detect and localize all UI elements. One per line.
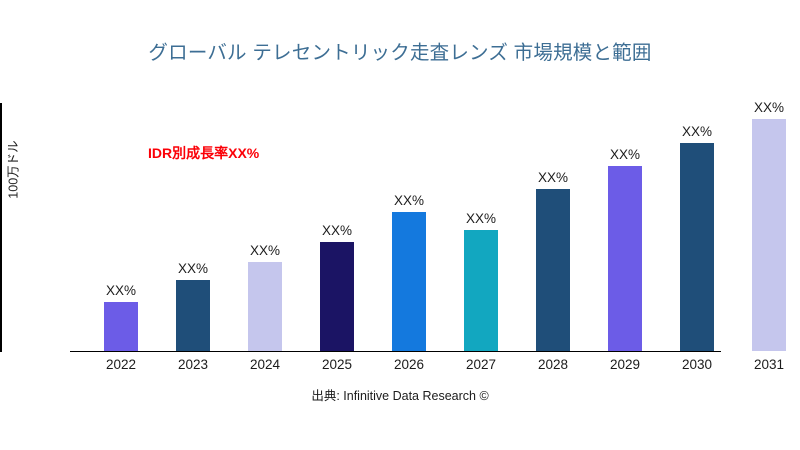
- x-tick-label-2029: 2029: [595, 357, 655, 372]
- bar-2030[interactable]: [680, 143, 714, 351]
- x-tick-label-2025: 2025: [307, 357, 367, 372]
- bar-column-2023[interactable]: XX%: [176, 103, 210, 351]
- bar-2029[interactable]: [608, 166, 642, 351]
- bar-2025[interactable]: [320, 242, 354, 351]
- chart-title: グローバル テレセントリック走査レンズ 市場規模と範囲: [0, 36, 800, 65]
- bar-value-label-2026: XX%: [394, 193, 424, 208]
- bar-value-label-2025: XX%: [322, 223, 352, 238]
- x-tick-label-2026: 2026: [379, 357, 439, 372]
- plot-area: XX%XX%XX%XX%XX%XX%XX%XX%XX%XX%: [70, 103, 800, 351]
- bar-column-2027[interactable]: XX%: [464, 103, 498, 351]
- bar-column-2031[interactable]: XX%: [752, 103, 786, 351]
- bar-column-2022[interactable]: XX%: [104, 103, 138, 351]
- x-tick-label-2028: 2028: [523, 357, 583, 372]
- bar-value-label-2027: XX%: [466, 211, 496, 226]
- x-tick-label-2024: 2024: [235, 357, 295, 372]
- bar-2031[interactable]: [752, 119, 786, 351]
- bar-value-label-2029: XX%: [610, 147, 640, 162]
- x-tick-label-2022: 2022: [91, 357, 151, 372]
- bar-2027[interactable]: [464, 230, 498, 351]
- chart-container: グローバル テレセントリック走査レンズ 市場規模と範囲 100万ドル XX%XX…: [0, 0, 800, 450]
- bar-value-label-2030: XX%: [682, 124, 712, 139]
- bar-value-label-2028: XX%: [538, 170, 568, 185]
- bar-2028[interactable]: [536, 189, 570, 351]
- x-tick-label-2027: 2027: [451, 357, 511, 372]
- bar-column-2025[interactable]: XX%: [320, 103, 354, 351]
- source-note: 出典: Infinitive Data Research ©: [0, 385, 800, 404]
- bar-value-label-2022: XX%: [106, 283, 136, 298]
- bar-column-2026[interactable]: XX%: [392, 103, 426, 351]
- bar-2026[interactable]: [392, 212, 426, 351]
- bar-value-label-2031: XX%: [754, 100, 784, 115]
- bar-value-label-2024: XX%: [250, 243, 280, 258]
- x-tick-label-2023: 2023: [163, 357, 223, 372]
- y-axis-label: 100万ドル: [3, 100, 22, 240]
- y-axis-line: [0, 103, 2, 352]
- bar-2022[interactable]: [104, 302, 138, 351]
- x-tick-label-2031: 2031: [739, 357, 799, 372]
- growth-rate-annotation: IDR別成長率XX%: [148, 143, 259, 163]
- bar-column-2024[interactable]: XX%: [248, 103, 282, 351]
- bar-column-2029[interactable]: XX%: [608, 103, 642, 351]
- bar-value-label-2023: XX%: [178, 261, 208, 276]
- bar-2024[interactable]: [248, 262, 282, 351]
- x-tick-label-2030: 2030: [667, 357, 727, 372]
- bar-column-2030[interactable]: XX%: [680, 103, 714, 351]
- bar-column-2028[interactable]: XX%: [536, 103, 570, 351]
- bar-2023[interactable]: [176, 280, 210, 351]
